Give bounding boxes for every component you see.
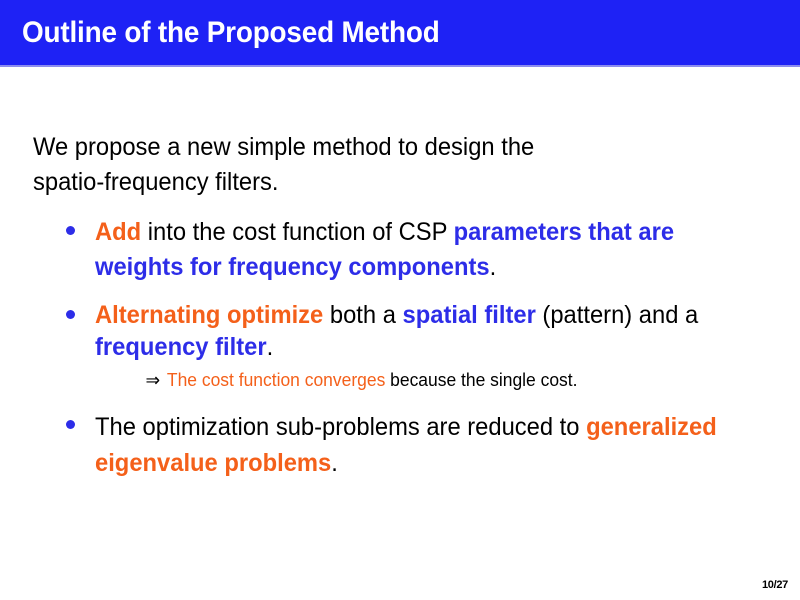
bullet-2-plain-a: both a <box>323 301 402 329</box>
bullet-1-text: Add into the cost function of CSP parame… <box>95 215 765 285</box>
bullet-2-emphasis-alternating: Alternating optimize <box>95 301 323 329</box>
list-item: Alternating optimize both a spatial filt… <box>0 299 800 363</box>
intro-paragraph: We propose a new simple method to design… <box>33 130 698 200</box>
intro-line-2: spatio-frequency filters. <box>33 165 698 200</box>
list-item: The optimization sub-problems are reduce… <box>0 409 800 481</box>
bullet-3-text: The optimization sub-problems are reduce… <box>95 409 765 481</box>
bullet-dot-icon <box>66 420 75 429</box>
bullet-dot-icon <box>66 310 75 319</box>
bullet-3-plain-a: The optimization sub-problems are reduce… <box>95 413 586 441</box>
slide-content: We propose a new simple method to design… <box>0 65 800 600</box>
sub-note-emphasis: The cost function converges <box>167 370 385 390</box>
list-item: Add into the cost function of CSP parame… <box>0 215 800 285</box>
slide-title-banner: Outline of the Proposed Method <box>0 0 800 65</box>
sub-note-rest: because the single cost. <box>385 370 577 390</box>
bullet-1-plain-a: into the cost function of CSP <box>141 218 453 246</box>
bullet-2-text: Alternating optimize both a spatial filt… <box>95 299 765 363</box>
double-arrow-icon: ⇒ <box>146 370 161 390</box>
sub-note-convergence: ⇒The cost function converges because the… <box>0 367 776 393</box>
bullet-1-emphasis-add: Add <box>95 218 141 246</box>
bullet-list: Add into the cost function of CSP parame… <box>0 215 800 481</box>
page-title: Outline of the Proposed Method <box>22 16 440 50</box>
bullet-2-emphasis-frequency-filter: frequency filter <box>95 333 267 361</box>
bullet-2-emphasis-spatial-filter: spatial filter <box>403 301 536 329</box>
bullet-dot-icon <box>66 226 75 235</box>
intro-line-1: We propose a new simple method to design… <box>33 133 534 161</box>
bullet-2-period: . <box>267 333 274 361</box>
bullet-2-plain-b: (pattern) and a <box>536 301 698 329</box>
bullet-1-period: . <box>490 253 497 281</box>
page-number: 10/27 <box>762 579 788 591</box>
bullet-3-period: . <box>331 449 338 477</box>
